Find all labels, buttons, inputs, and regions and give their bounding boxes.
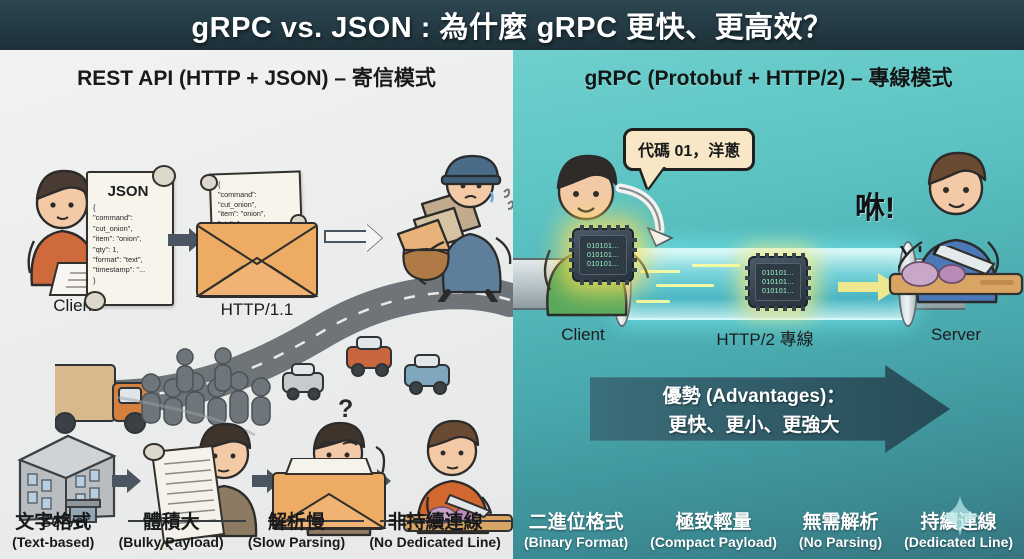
http11-envelope: {"command":"cut_onion","item": "onion","…: [196, 172, 320, 298]
chip-pin: [580, 280, 584, 285]
protobuf-chip-in-transit: 010101...010101...010101...: [748, 256, 808, 308]
chip-pin: [632, 258, 637, 262]
arrow-envelope-to-postman: [324, 230, 366, 243]
json-code-line: "format": "text",: [93, 255, 145, 265]
chip-pin: [806, 286, 811, 290]
grpc-advantage-label-2-en: (Compact Payload): [650, 534, 777, 551]
sparkle-icon: [940, 496, 980, 536]
whoosh-sound-effect: 咻!: [855, 183, 895, 227]
postman-carrier: [392, 142, 513, 302]
chip-pin: [632, 238, 637, 242]
json-code-line: "timestamp": "...: [93, 265, 145, 275]
chip-pin: [806, 296, 811, 300]
json-scroll-code: {"command":"cut_onion","item": "onion","…: [93, 203, 145, 286]
chip-pin: [632, 248, 637, 252]
rest-drawback-label-3-zh: 解析慢: [248, 512, 345, 534]
grpc-advantage-label-4-en: (Dedicated Line): [904, 534, 1013, 551]
rest-drawback-label-2-zh: 體積大: [119, 512, 224, 534]
envelope-fold-icon: [196, 222, 318, 298]
confusion-question-mark: ?: [338, 395, 353, 424]
rest-drawback-label-1-en: (Text-based): [12, 534, 94, 551]
grpc-advantage-label-1: 二進位格式(Binary Format): [524, 512, 628, 551]
right-transport-label: HTTP/2 專線: [690, 325, 840, 350]
rest-drawback-label-2: 體積大(Bulky Payload): [119, 512, 224, 551]
letter-code-line: "command":: [218, 190, 269, 200]
right-client-label: Client: [538, 325, 628, 345]
json-scroll-title: JSON: [82, 183, 174, 200]
grpc-advantage-label-1-zh: 二進位格式: [524, 512, 628, 534]
cutting-board-right: [880, 246, 1024, 310]
json-code-line: "command":: [93, 213, 145, 223]
rest-drawback-label-4: 非持續連線(No Dedicated Line): [369, 512, 500, 551]
chip-pin: [806, 276, 811, 280]
chip-pin: [589, 225, 593, 230]
chip-pin: [569, 268, 574, 272]
chip-pin: [806, 266, 811, 270]
left-panel-heading: REST API (HTTP + JSON) – 寄信模式: [0, 62, 513, 92]
infographic-root: gRPC vs. JSON : 為什麼 gRPC 更快、更高效？ REST AP…: [0, 0, 1024, 559]
chip-pin: [569, 248, 574, 252]
chip-pin: [625, 280, 629, 285]
chip-pin: [569, 258, 574, 262]
chip-pin: [774, 306, 778, 311]
chip-pin: [792, 306, 796, 311]
chip-pin: [765, 253, 769, 258]
json-code-line: }: [93, 276, 145, 286]
grpc-advantage-label-1-en: (Binary Format): [524, 534, 628, 551]
chip-pin: [745, 296, 750, 300]
chip-pin: [616, 280, 620, 285]
advantages-line-2: 更快、更小、更強大: [668, 410, 839, 437]
chip-pin: [783, 253, 787, 258]
right-server-label: Server: [908, 325, 1004, 345]
chip-binary-row: 010101...: [762, 270, 794, 277]
chip-binary-row: 010101...: [762, 279, 794, 286]
chip-pin: [580, 225, 584, 230]
chip-pin: [801, 253, 805, 258]
grpc-advantage-label-3: 無需解析(No Parsing): [799, 512, 882, 551]
letter-code-line: "cut_onion",: [218, 200, 269, 210]
chip-binary-row: 010101...: [587, 243, 619, 250]
chip-pin: [598, 225, 602, 230]
protobuf-chip-client: 010101...010101...010101...: [572, 228, 634, 282]
advantages-banner: 優勢 (Advantages)： 更快、更小、更強大: [590, 365, 950, 453]
chip-pin: [783, 306, 787, 311]
chip-pin: [616, 225, 620, 230]
chip-pin: [756, 306, 760, 311]
rest-drawback-label-1: 文字格式(Text-based): [12, 512, 94, 551]
left-transport-label: HTTP/1.1: [194, 300, 320, 320]
chip-pin: [607, 280, 611, 285]
right-panel-heading: gRPC (Protobuf + HTTP/2) – 專線模式: [513, 62, 1024, 92]
chip-pin: [745, 276, 750, 280]
json-scroll: JSON {"command":"cut_onion","item": "oni…: [82, 163, 178, 313]
letter-code-line: "item": "onion",: [218, 209, 269, 219]
rest-drawback-label-3: 解析慢(Slow Parsing): [248, 512, 345, 551]
chip-pin: [801, 306, 805, 311]
arrow-server-to-reader: [112, 475, 128, 487]
chip-pin: [745, 266, 750, 270]
grpc-advantage-label-2-zh: 極致輕量: [650, 512, 777, 534]
chip-pin: [625, 225, 629, 230]
header-bar: gRPC vs. JSON : 為什麼 gRPC 更快、更高效？: [0, 0, 1024, 50]
grpc-advantage-label-3-zh: 無需解析: [799, 512, 882, 534]
json-code-line: {: [93, 203, 145, 213]
chip-binary-row: 010101...: [587, 252, 619, 259]
rest-drawback-label-1-zh: 文字格式: [12, 512, 94, 534]
json-code-line: "item": "onion",: [93, 234, 145, 244]
chip-binary-row: 010101...: [587, 261, 619, 268]
rest-drawback-label-4-en: (No Dedicated Line): [369, 534, 500, 551]
chip-pin: [765, 306, 769, 311]
chip-pin: [598, 280, 602, 285]
chip-pin: [589, 280, 593, 285]
rest-drawback-label-4-zh: 非持續連線: [369, 512, 500, 534]
chip-pin: [792, 253, 796, 258]
rest-drawback-label-3-en: (Slow Parsing): [248, 534, 345, 551]
chip-pin: [756, 253, 760, 258]
advantages-line-1: 優勢 (Advantages)：: [663, 381, 846, 408]
json-code-line: "cut_onion",: [93, 224, 145, 234]
left-panel-rest-api: REST API (HTTP + JSON) – 寄信模式: [0, 50, 513, 559]
chip-pin: [607, 225, 611, 230]
left-bottom-labels: 文字格式(Text-based)體積大(Bulky Payload)解析慢(Sl…: [0, 512, 513, 551]
letter-code-line: {: [218, 180, 269, 190]
chip-pin: [774, 253, 778, 258]
chip-binary-row: 010101...: [762, 288, 794, 295]
grpc-advantage-label-2: 極致輕量(Compact Payload): [650, 512, 777, 551]
arrow-scroll-to-envelope: [168, 234, 190, 246]
rest-drawback-label-2-en: (Bulky Payload): [119, 534, 224, 551]
chip-pin: [569, 238, 574, 242]
json-code-line: "qty": 1,: [93, 245, 145, 255]
chip-pin: [632, 268, 637, 272]
chip-pin: [745, 286, 750, 290]
grpc-advantage-label-3-en: (No Parsing): [799, 534, 882, 551]
page-title: gRPC vs. JSON : 為什麼 gRPC 更快、更高效？: [191, 4, 832, 46]
